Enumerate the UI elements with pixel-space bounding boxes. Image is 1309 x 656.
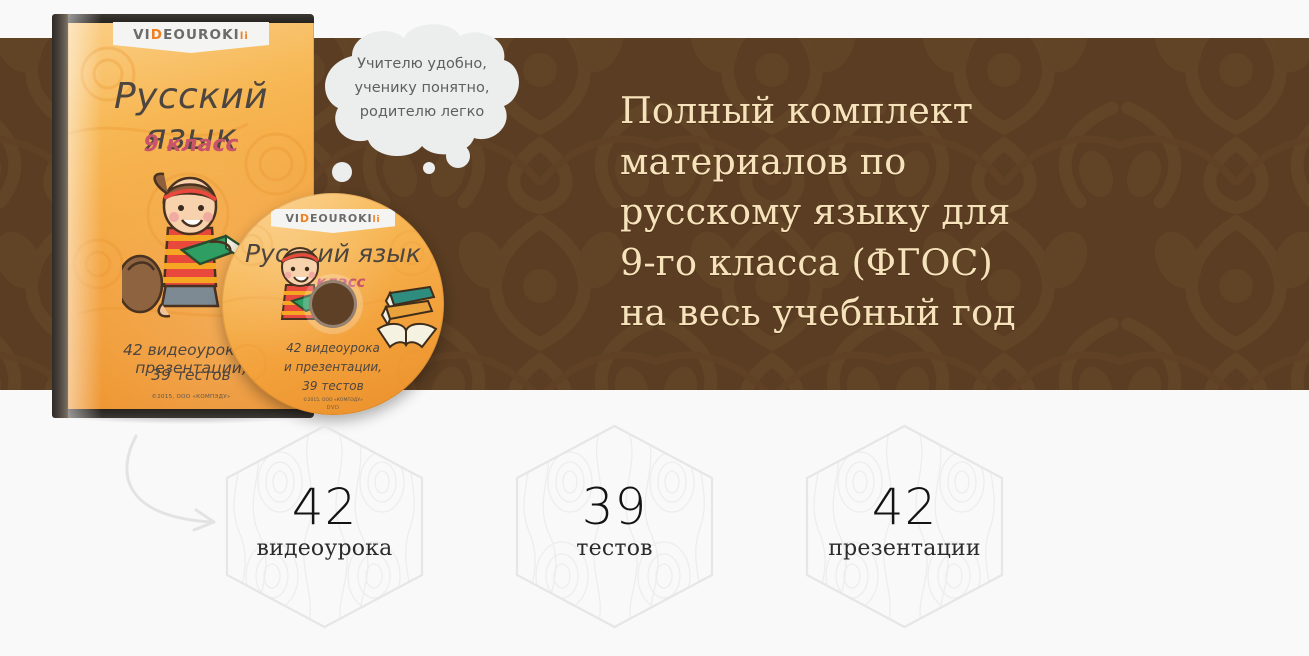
disc-footer-line-1: 42 видеоурока — [222, 341, 444, 355]
dvd-case-top-edge — [68, 14, 314, 23]
stat-hexagon-presentations: 42 презентации — [802, 424, 1007, 629]
stat-hexagon-tests: 39 тестов — [512, 424, 717, 629]
disc-logo-text: VIDEOUROKIli — [286, 212, 381, 225]
stat-label: тестов — [512, 536, 717, 561]
videouroki-logo-text: VIDEOUROKIli — [133, 27, 249, 43]
dvd-case-subtitle: 9 класс — [68, 132, 314, 157]
disc-footer-line-2: и презентации, — [222, 360, 444, 374]
speech-bubble-text: Учителю удобно, ученику понятно, родител… — [338, 52, 506, 124]
stat-number: 39 — [512, 478, 717, 536]
page-title: Полный комплект материалов по русскому я… — [620, 86, 1090, 339]
disc-copyright: ©2015, ООО «КОМПЭДУ» — [222, 398, 444, 403]
stat-label: видеоурока — [222, 536, 427, 561]
speech-bubble: Учителю удобно, ученику понятно, родител… — [312, 22, 528, 198]
dvd-disc: VIDEOUROKIli Русский язык 9 класс — [222, 193, 444, 415]
disc-format-label: DVD — [222, 405, 444, 411]
stat-number: 42 — [802, 478, 1007, 536]
stat-hexagon-videolessons: 42 видеоурока — [222, 424, 427, 629]
promo-banner: Полный комплект материалов по русскому я… — [0, 0, 1309, 656]
disc-center-hole — [309, 280, 357, 328]
stat-number: 42 — [222, 478, 427, 536]
disc-footer-line-3: 39 тестов — [222, 379, 444, 393]
stat-label: презентации — [802, 536, 1007, 561]
curved-arrow-icon — [118, 430, 238, 540]
